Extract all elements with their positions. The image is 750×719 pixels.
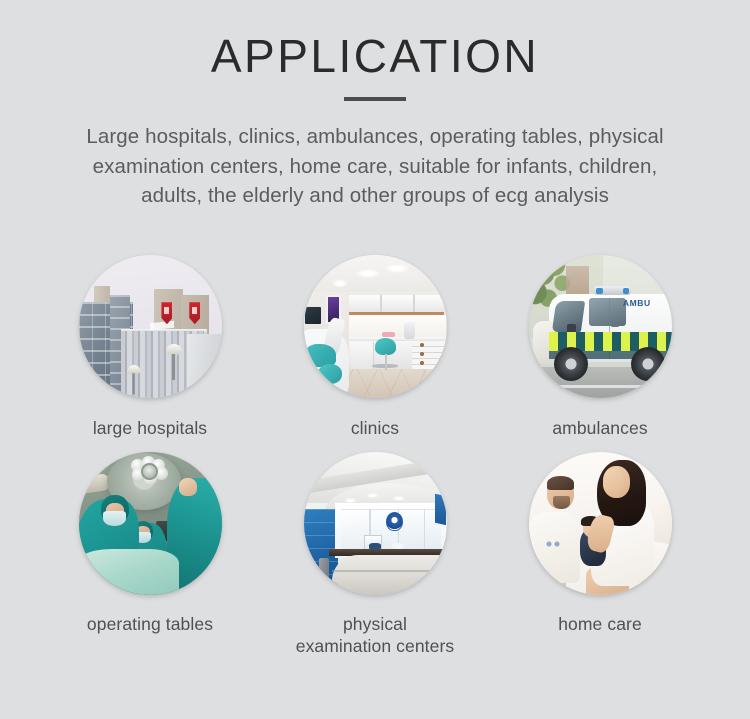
card-label-clinics: clinics [351,418,399,440]
ambulance-vehicle-photo: AMBU [529,255,672,398]
examination-center-scene [304,452,447,595]
monitor-icon [304,306,323,325]
card-home-care[interactable]: home care [488,452,713,636]
ambulance-text: AMBU [623,298,651,308]
section-description: Large hospitals, clinics, ambulances, op… [65,122,685,210]
family-with-baby-photo [529,452,672,595]
card-operating-tables[interactable]: operating tables [38,452,263,636]
hospital-emblem-icon [386,512,403,531]
lamp-core [141,463,158,480]
side-window [589,298,626,327]
man-beard [553,496,570,509]
card-large-hospitals[interactable]: large hospitals [38,255,263,440]
hospital-building-photo [79,255,222,398]
wall-sign [435,494,446,525]
wheel [631,347,665,381]
application-section: APPLICATION Large hospitals, clinics, am… [0,0,750,719]
street-lamp-icon [166,344,182,355]
surgeon-hand [179,478,198,497]
home-care-scene [529,452,672,595]
panel-divider [424,509,426,549]
surgery-operating-room-photo [79,452,222,595]
street-lamp-icon [127,365,140,374]
shirt-print [543,532,563,552]
card-label-operating-tables: operating tables [87,614,213,636]
card-label-large-hospitals: large hospitals [93,418,207,440]
card-label-physical-examination-centers: physical examination centers [296,614,455,658]
waste-bin [319,558,329,582]
medical-reception-desk-photo [304,452,447,595]
ceiling-light-icon [384,264,410,273]
reception-counter [332,555,446,595]
man-hair [547,476,574,490]
card-physical-examination-centers[interactable]: physical examination centers [263,452,488,658]
door-handle [611,324,619,327]
dental-chair-headrest [318,364,342,384]
supply-tray [382,332,395,336]
cabinet-unit-left [351,342,374,371]
operating-room-scene [79,452,222,595]
card-row-2: operating tables [0,452,750,658]
dental-clinic-photo [304,255,447,398]
drawer-unit [412,341,446,372]
card-label-ambulances: ambulances [552,418,647,440]
application-card-grid: large hospitals [0,255,750,658]
section-header: APPLICATION Large hospitals, clinics, am… [0,0,750,210]
dentist-stool [375,338,396,355]
card-clinics[interactable]: clinics [263,255,488,440]
page-title: APPLICATION [0,32,750,80]
surgical-mask-icon [103,511,126,527]
right-wall [187,334,221,398]
surgical-drape [79,549,179,595]
hospital-scene [79,255,222,398]
card-ambulances[interactable]: AMBU ambulances [488,255,713,440]
emergency-lightbar-icon [594,286,631,295]
title-divider [344,97,406,101]
downlight-icon [344,498,357,503]
upper-cabinets [349,295,443,315]
card-label-home-care: home care [558,614,642,636]
medical-device [404,322,415,339]
ambulance-scene: AMBU [529,255,672,398]
wheel [554,347,588,381]
clinic-scene [304,255,447,398]
card-row-1: large hospitals [0,255,750,440]
